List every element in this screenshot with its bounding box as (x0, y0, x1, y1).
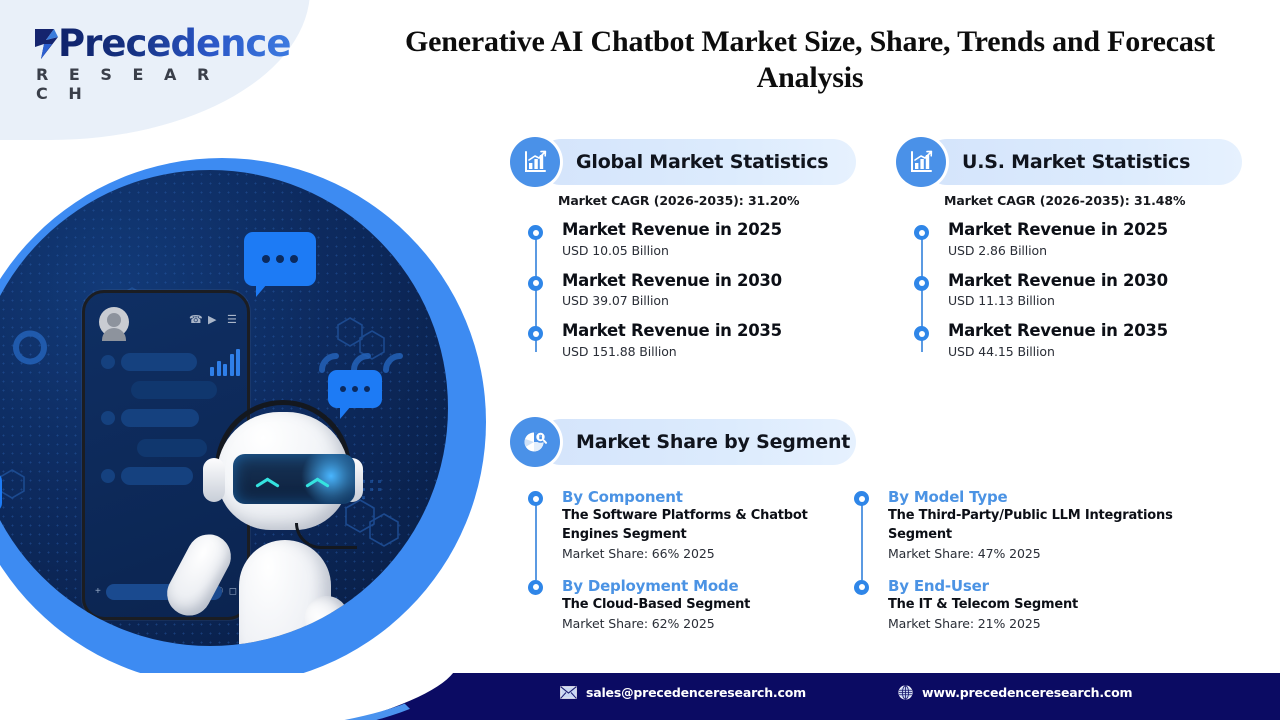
segment-share: Market Share: 62% 2025 (562, 616, 846, 631)
robot-eye-right (305, 476, 331, 489)
logo-subtitle: R E S E A R C H (36, 65, 248, 103)
robot-visor (233, 454, 355, 504)
logo-wordmark: Precedence (58, 22, 290, 65)
footer-website-text: www.precedenceresearch.com (922, 685, 1132, 700)
stat-value: USD 39.07 Billion (562, 293, 866, 308)
segment-leader: The Third-Party/Public LLM Integrations … (888, 507, 1192, 545)
us-cagr-text: Market CAGR (2026-2035): 31.48% (944, 193, 1185, 208)
pie-chart-search-icon (510, 417, 560, 467)
segment-by-component: By Component The Software Platforms & Ch… (526, 488, 846, 561)
robot-eye-left (255, 476, 281, 489)
chat-line (121, 353, 197, 371)
timeline-dot-icon (914, 225, 929, 240)
stat-value: USD 44.15 Billion (948, 344, 1252, 359)
us-stat-row-2025: Market Revenue in 2025 USD 2.86 Billion (912, 220, 1252, 258)
segment-share: Market Share: 21% 2025 (888, 616, 1192, 631)
us-stat-row-2035: Market Revenue in 2035 USD 44.15 Billion (912, 321, 1252, 359)
stat-title: Market Revenue in 2025 (562, 220, 866, 241)
us-market-statistics-header: U.S. Market Statistics (924, 139, 1242, 185)
segment-by-model-type: By Model Type The Third-Party/Public LLM… (852, 488, 1192, 561)
segment-label: By End-User (888, 577, 1192, 595)
bar-chart-growth-icon (510, 137, 560, 187)
timeline-dot-icon (854, 580, 869, 595)
precedence-research-logo[interactable]: Precedence R E S E A R C H (28, 24, 248, 84)
segment-label: By Component (562, 488, 846, 506)
segment-leader: The IT & Telecom Segment (888, 596, 1192, 615)
us-stats-timeline: Market Revenue in 2025 USD 2.86 Billion … (912, 220, 1252, 390)
menu-icon: ☰ (227, 313, 237, 326)
plus-icon[interactable]: + (95, 587, 101, 597)
phone-header: ☎ ▶ ☰ (85, 293, 247, 345)
segment-label: By Model Type (888, 488, 1192, 506)
stat-value: USD 151.88 Billion (562, 344, 866, 359)
illustration-scene: ☎ ▶ ☰ + ➤ ⚇ ◻ (0, 170, 448, 646)
market-share-by-segment-label: Market Share by Segment (576, 431, 850, 453)
ai-chatbot-illustration: ☎ ▶ ☰ + ➤ ⚇ ◻ (0, 158, 486, 720)
us-market-statistics-label: U.S. Market Statistics (962, 151, 1190, 173)
timeline-dot-icon (528, 225, 543, 240)
segment-by-end-user: By End-User The IT & Telecom Segment Mar… (852, 577, 1192, 631)
stat-value: USD 2.86 Billion (948, 243, 1252, 258)
globe-icon (898, 685, 913, 700)
global-cagr-text: Market CAGR (2026-2035): 31.20% (558, 193, 799, 208)
call-icon: ☎ (189, 313, 203, 326)
footer-bar: sales@precedenceresearch.com www.precede… (0, 673, 1280, 720)
avatar (99, 307, 129, 337)
timeline-dot-icon (528, 326, 543, 341)
chat-avatar-dot (101, 469, 115, 483)
segment-leader: The Cloud-Based Segment (562, 596, 846, 615)
global-stat-row-2025: Market Revenue in 2025 USD 10.05 Billion (526, 220, 866, 258)
segment-by-deployment-mode: By Deployment Mode The Cloud-Based Segme… (526, 577, 846, 631)
segment-share: Market Share: 47% 2025 (888, 546, 1192, 561)
timeline-dot-icon (854, 491, 869, 506)
speech-bubble (244, 232, 316, 286)
segment-leader: The Software Platforms & Chatbot Engines… (562, 507, 846, 545)
global-market-statistics-label: Global Market Statistics (576, 151, 828, 173)
robot-ear-left (203, 458, 225, 502)
segment-label: By Deployment Mode (562, 577, 846, 595)
segment-share: Market Share: 66% 2025 (562, 546, 846, 561)
timeline-dot-icon (528, 580, 543, 595)
timeline-dot-icon (914, 326, 929, 341)
stat-value: USD 10.05 Billion (562, 243, 866, 258)
stat-title: Market Revenue in 2035 (948, 321, 1252, 342)
stat-title: Market Revenue in 2035 (562, 321, 866, 342)
bar-chart-growth-icon (896, 137, 946, 187)
page-title: Generative AI Chatbot Market Size, Share… (370, 24, 1250, 96)
chat-avatar-dot (101, 411, 115, 425)
stat-value: USD 11.13 Billion (948, 293, 1252, 308)
footer-email[interactable]: sales@precedenceresearch.com (560, 685, 806, 700)
envelope-icon (560, 686, 577, 699)
footer-website[interactable]: www.precedenceresearch.com (898, 685, 1132, 700)
timeline-dot-icon (528, 276, 543, 291)
bar-chart-decoration (0, 556, 14, 584)
market-share-by-segment-header: Market Share by Segment (538, 419, 856, 465)
timeline-dot-icon (914, 276, 929, 291)
timeline-dot-icon (528, 491, 543, 506)
chat-avatar-dot (101, 355, 115, 369)
global-stat-row-2030: Market Revenue in 2030 USD 39.07 Billion (526, 271, 866, 309)
segments-right-column: By Model Type The Third-Party/Public LLM… (852, 488, 1192, 640)
stat-title: Market Revenue in 2025 (948, 220, 1252, 241)
global-stat-row-2035: Market Revenue in 2035 USD 151.88 Billio… (526, 321, 866, 359)
footer-email-text: sales@precedenceresearch.com (586, 685, 806, 700)
video-icon: ▶ (208, 313, 216, 326)
stat-title: Market Revenue in 2030 (948, 271, 1252, 292)
infographic-canvas: Precedence R E S E A R C H Generative AI… (0, 0, 1280, 720)
stat-title: Market Revenue in 2030 (562, 271, 866, 292)
footer-curve-blue (0, 673, 450, 720)
global-stats-timeline: Market Revenue in 2025 USD 10.05 Billion… (526, 220, 866, 390)
global-market-statistics-header: Global Market Statistics (538, 139, 856, 185)
bar-chart-decoration (210, 348, 240, 376)
us-stat-row-2030: Market Revenue in 2030 USD 11.13 Billion (912, 271, 1252, 309)
segments-left-column: By Component The Software Platforms & Ch… (526, 488, 846, 640)
robot-mascot (177, 392, 407, 646)
